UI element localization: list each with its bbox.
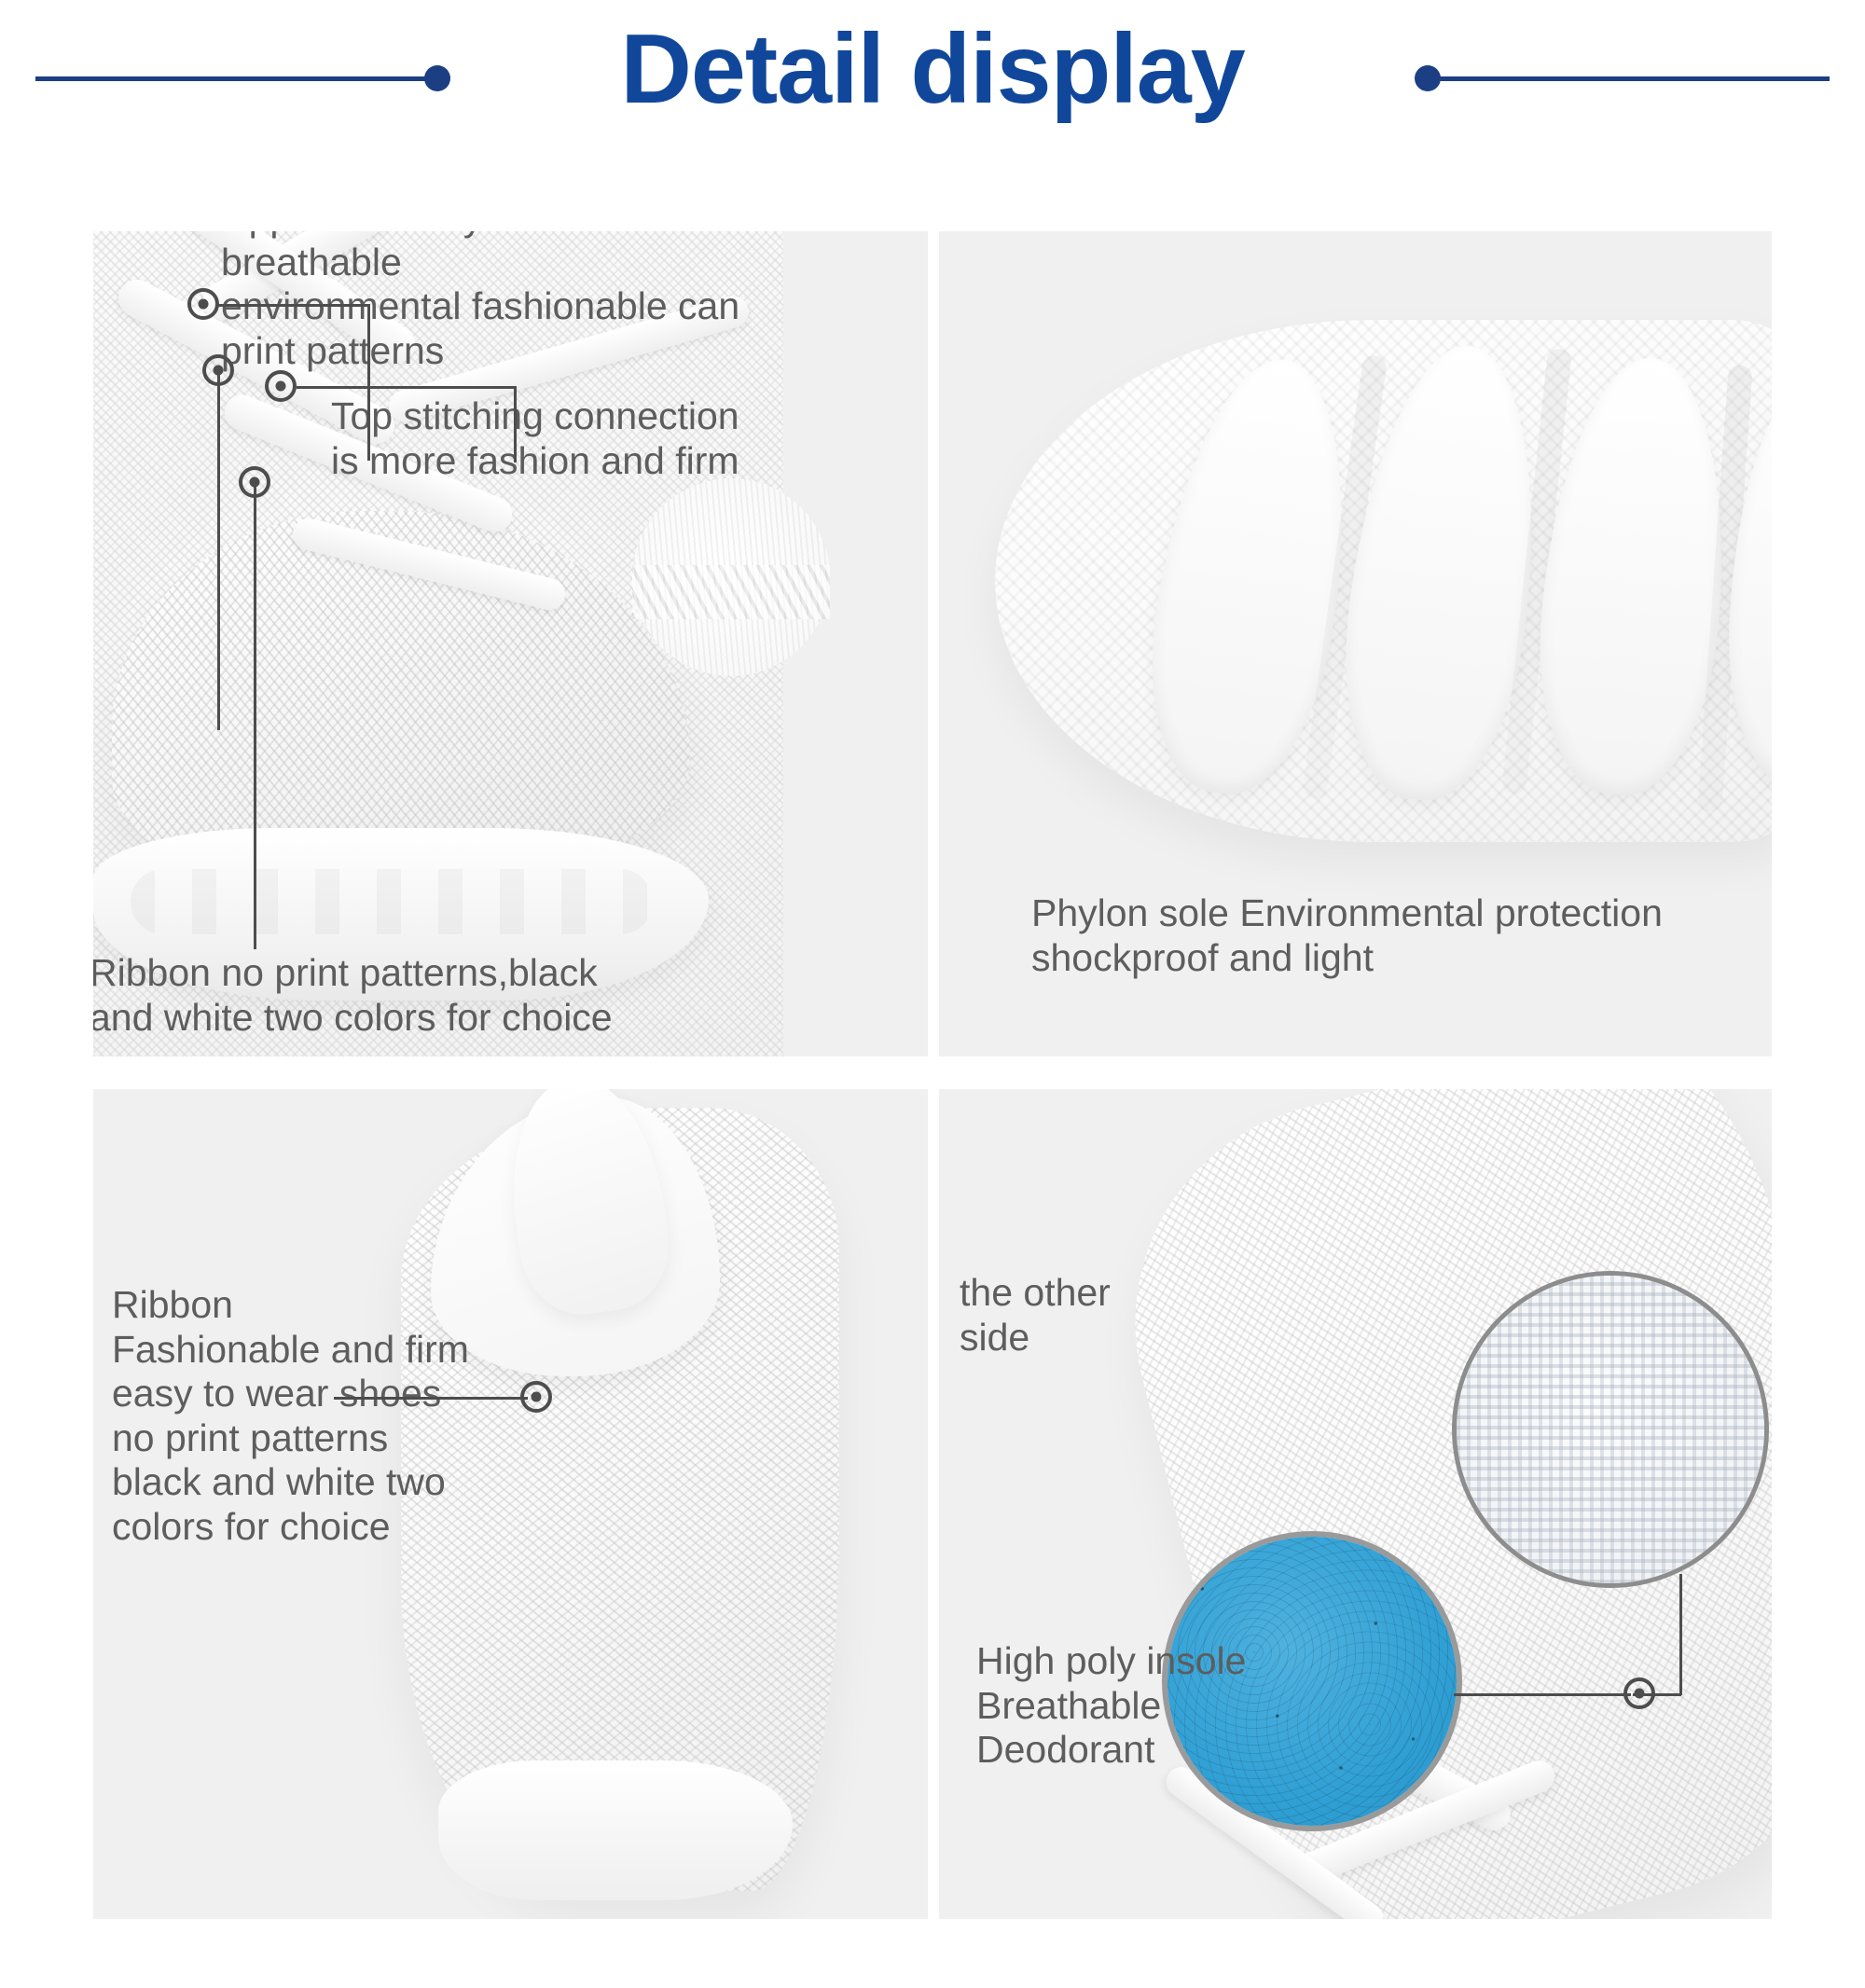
page-title: Detail display (0, 13, 1865, 126)
outsole-photo (995, 320, 1772, 842)
panel-heel-ribbon: Ribbon Fashionable and firm easy to wear… (93, 1089, 928, 1919)
panel-insole: the other side High poly insole Breathab… (939, 1089, 1772, 1919)
panel-upper-mesh: Upper three layer mesh breathable enviro… (93, 231, 928, 1056)
heel-ribbon-marker[interactable] (520, 1381, 552, 1413)
leader-line (1454, 1693, 1631, 1696)
stitching-magnifier-circle (632, 478, 830, 676)
page-header: Detail display (0, 0, 1865, 154)
note-heel-ribbon: Ribbon Fashionable and firm easy to wear… (112, 1283, 504, 1549)
leader-line (1679, 1574, 1682, 1695)
upper-mesh-marker[interactable] (187, 288, 219, 320)
insole-mesh-magnifier-circle (1457, 1276, 1764, 1583)
note-phylon-sole: Phylon sole Environmental protection sho… (1031, 891, 1768, 980)
leader-line (367, 304, 370, 461)
leader-line (217, 371, 220, 730)
panel-phylon-sole: Phylon sole Environmental protection sho… (939, 231, 1772, 1056)
leader-line (218, 304, 369, 307)
leader-line (254, 483, 256, 949)
ribbon-marker[interactable] (202, 354, 234, 386)
leader-line (334, 1397, 528, 1400)
leader-line (297, 386, 516, 389)
leader-line (1633, 1693, 1681, 1696)
stitch-detail (632, 565, 830, 619)
note-other-side: the other side (960, 1271, 1239, 1360)
note-ribbon: Ribbon no print patterns,black and white… (93, 951, 686, 1040)
heel-midsole (438, 1760, 793, 1900)
note-top-stitching: Top stitching connection is more fashion… (331, 394, 779, 483)
leader-line (514, 386, 517, 462)
note-upper-mesh: Upper three layer mesh breathable enviro… (221, 231, 799, 373)
stitching-marker[interactable] (265, 370, 297, 402)
note-high-poly-insole: High poly insole Breathable Deodorant (976, 1639, 1368, 1773)
ribbon-marker-lower[interactable] (239, 466, 270, 498)
